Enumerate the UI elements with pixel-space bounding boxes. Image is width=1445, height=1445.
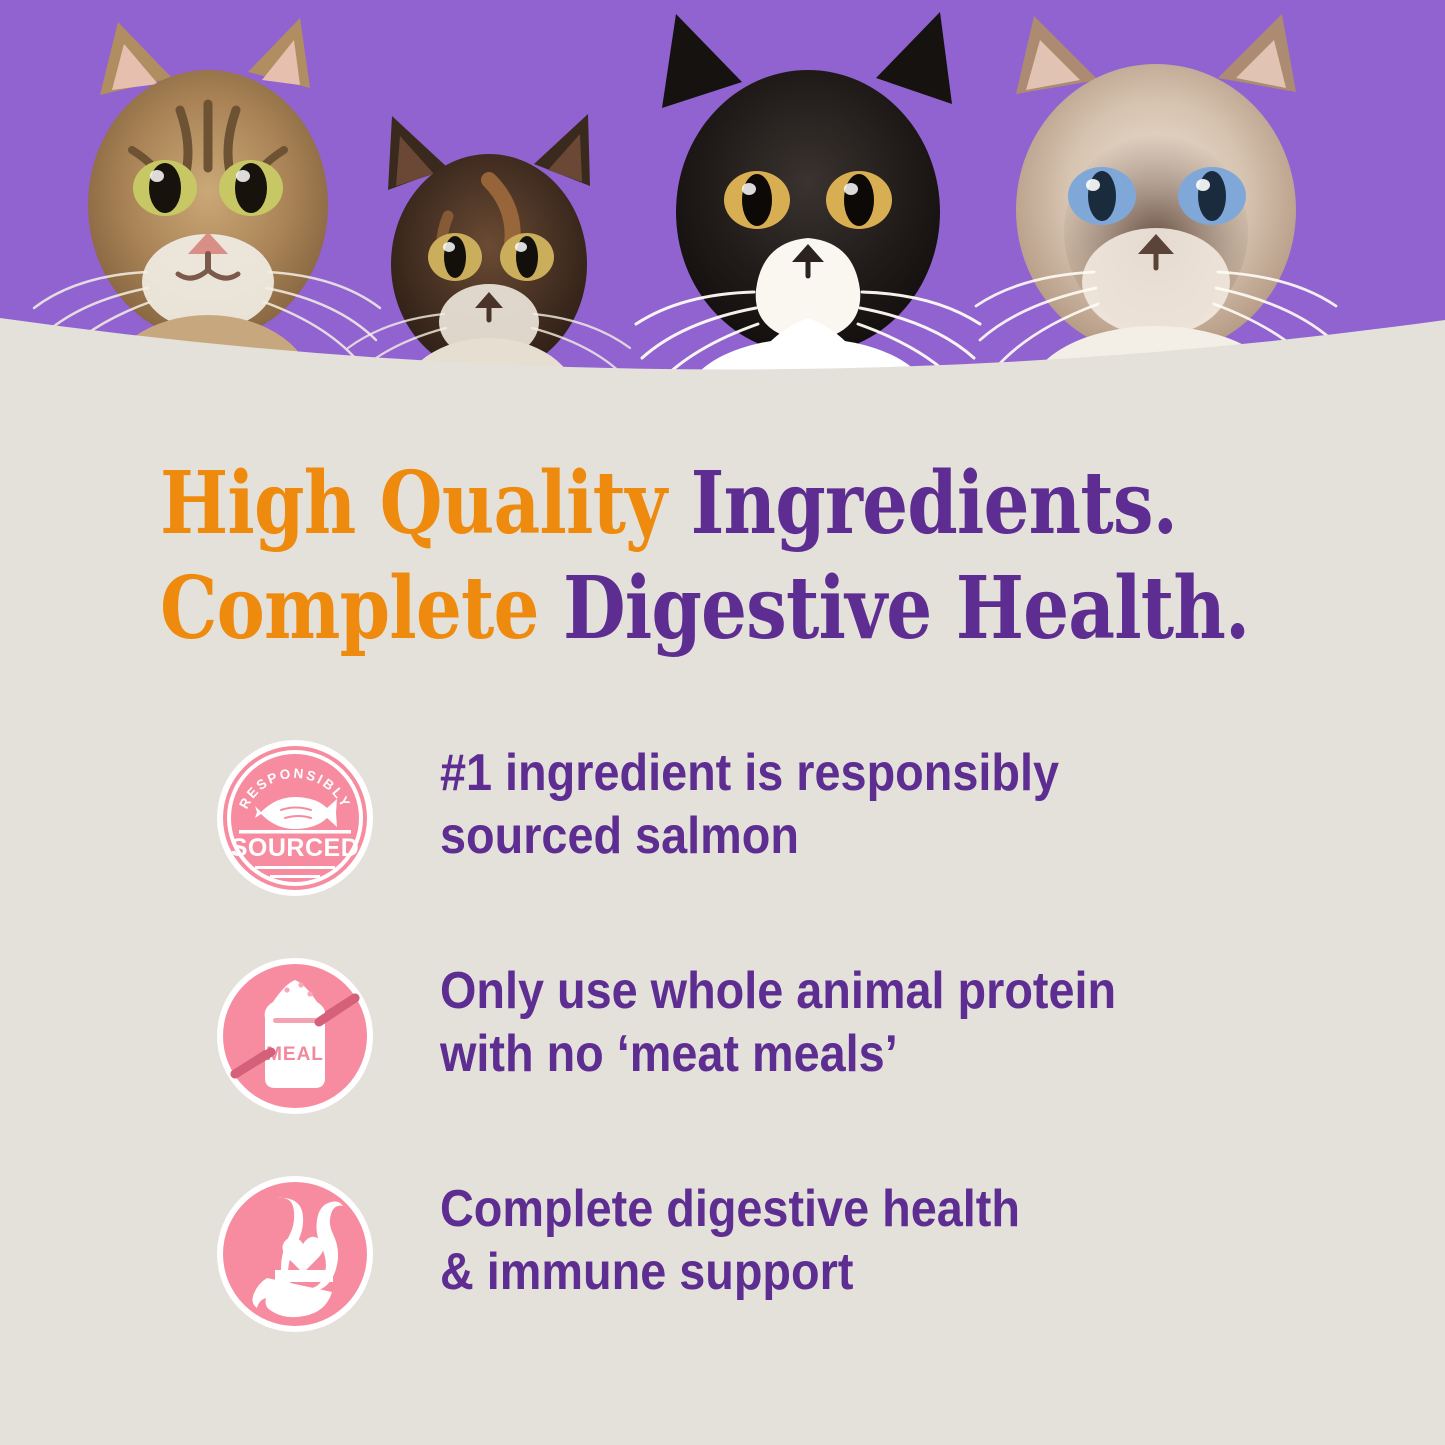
headline-line-1-orange: High Quality: [160, 453, 691, 554]
headline-line-1: High Quality Ingredients.: [160, 452, 1151, 557]
list-item-label: #1 ingredient is responsibly sourced sal…: [440, 742, 1059, 869]
list-item-label: Complete digestive health & immune suppo…: [440, 1178, 1020, 1305]
cat-brown-tabby: [34, 18, 380, 400]
cat-tuxedo: [636, 12, 980, 400]
cat-photo-group: [0, 0, 1445, 400]
bag-label: MEAL: [266, 1044, 324, 1065]
headline-line-1-purple: Ingredients.: [691, 453, 1177, 554]
headline-line-2: Complete Digestive Health.: [160, 557, 1151, 662]
list-item-label: Only use whole animal protein with no ‘m…: [440, 960, 1116, 1087]
cat-ragdoll: [976, 14, 1336, 400]
stomach-heart-digestive-health-icon: [215, 1174, 375, 1334]
page-title: High Quality Ingredients. Complete Diges…: [160, 452, 1151, 662]
badge-main-label: SOURCED: [231, 834, 360, 862]
feature-list: RESPONSIBLY SOURCED #1 ingredient is res…: [215, 730, 1395, 1384]
list-item: RESPONSIBLY SOURCED #1 ingredient is res…: [215, 730, 1395, 948]
list-item: Complete digestive health & immune suppo…: [215, 1166, 1395, 1384]
list-item: MEAL Only use whole animal protein with …: [215, 948, 1395, 1166]
hero-banner: [0, 0, 1445, 400]
responsibly-sourced-fish-badge-icon: RESPONSIBLY SOURCED: [215, 738, 375, 898]
headline-line-2-purple: Digestive Health.: [563, 558, 1249, 659]
no-meat-meal-bag-icon: MEAL: [215, 956, 375, 1116]
headline-line-2-orange: Complete: [160, 558, 563, 659]
cat-tortoiseshell-kitten: [348, 114, 630, 400]
